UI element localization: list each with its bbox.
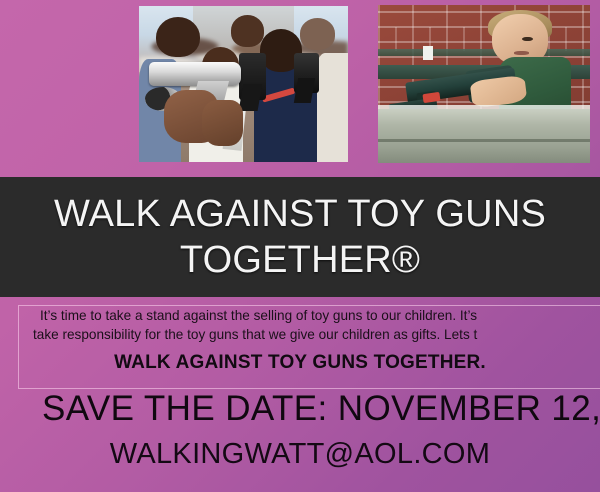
poster-title-line-2: TOGETHER® — [180, 241, 420, 279]
child-head-1 — [156, 17, 200, 58]
photo-band — [0, 0, 600, 177]
title-band: WALK AGAINST TOY GUNS TOGETHER® — [0, 177, 600, 297]
photo-right-inner — [378, 5, 590, 163]
upper-green-beam — [378, 49, 590, 55]
child-figure-far-right — [315, 53, 348, 162]
boy-mouth — [514, 51, 529, 55]
concrete-ledge-top-edge — [378, 105, 590, 109]
contact-email: WALKINGWATT@AOL.COM — [0, 437, 600, 471]
child-head-5 — [300, 18, 336, 49]
boy-eye — [522, 37, 533, 42]
concrete-ledge-seam — [378, 139, 590, 142]
body-paragraph-line-2: take responsibility for the toy guns tha… — [33, 325, 600, 344]
photo-children-with-toy-guns — [139, 6, 348, 162]
second-hand — [202, 100, 244, 147]
poster-canvas: WALK AGAINST TOY GUNS TOGETHER® It’s tim… — [0, 0, 600, 492]
save-the-date-line: SAVE THE DATE: NOVEMBER 12, — [42, 389, 600, 429]
photo-left-inner — [139, 6, 348, 162]
concrete-ledge — [378, 109, 590, 163]
tagline: WALK AGAINST TOY GUNS TOGETHER. — [0, 352, 600, 374]
white-wall-patch — [423, 46, 434, 60]
body-paragraph-line-1: It’s time to take a stand against the se… — [40, 308, 477, 323]
body-paragraph: It’s time to take a stand against the se… — [40, 306, 600, 344]
child-head-3 — [231, 15, 264, 46]
photo-boy-with-toy-rifle — [378, 5, 590, 163]
poster-title-line-1: WALK AGAINST TOY GUNS — [54, 195, 546, 233]
